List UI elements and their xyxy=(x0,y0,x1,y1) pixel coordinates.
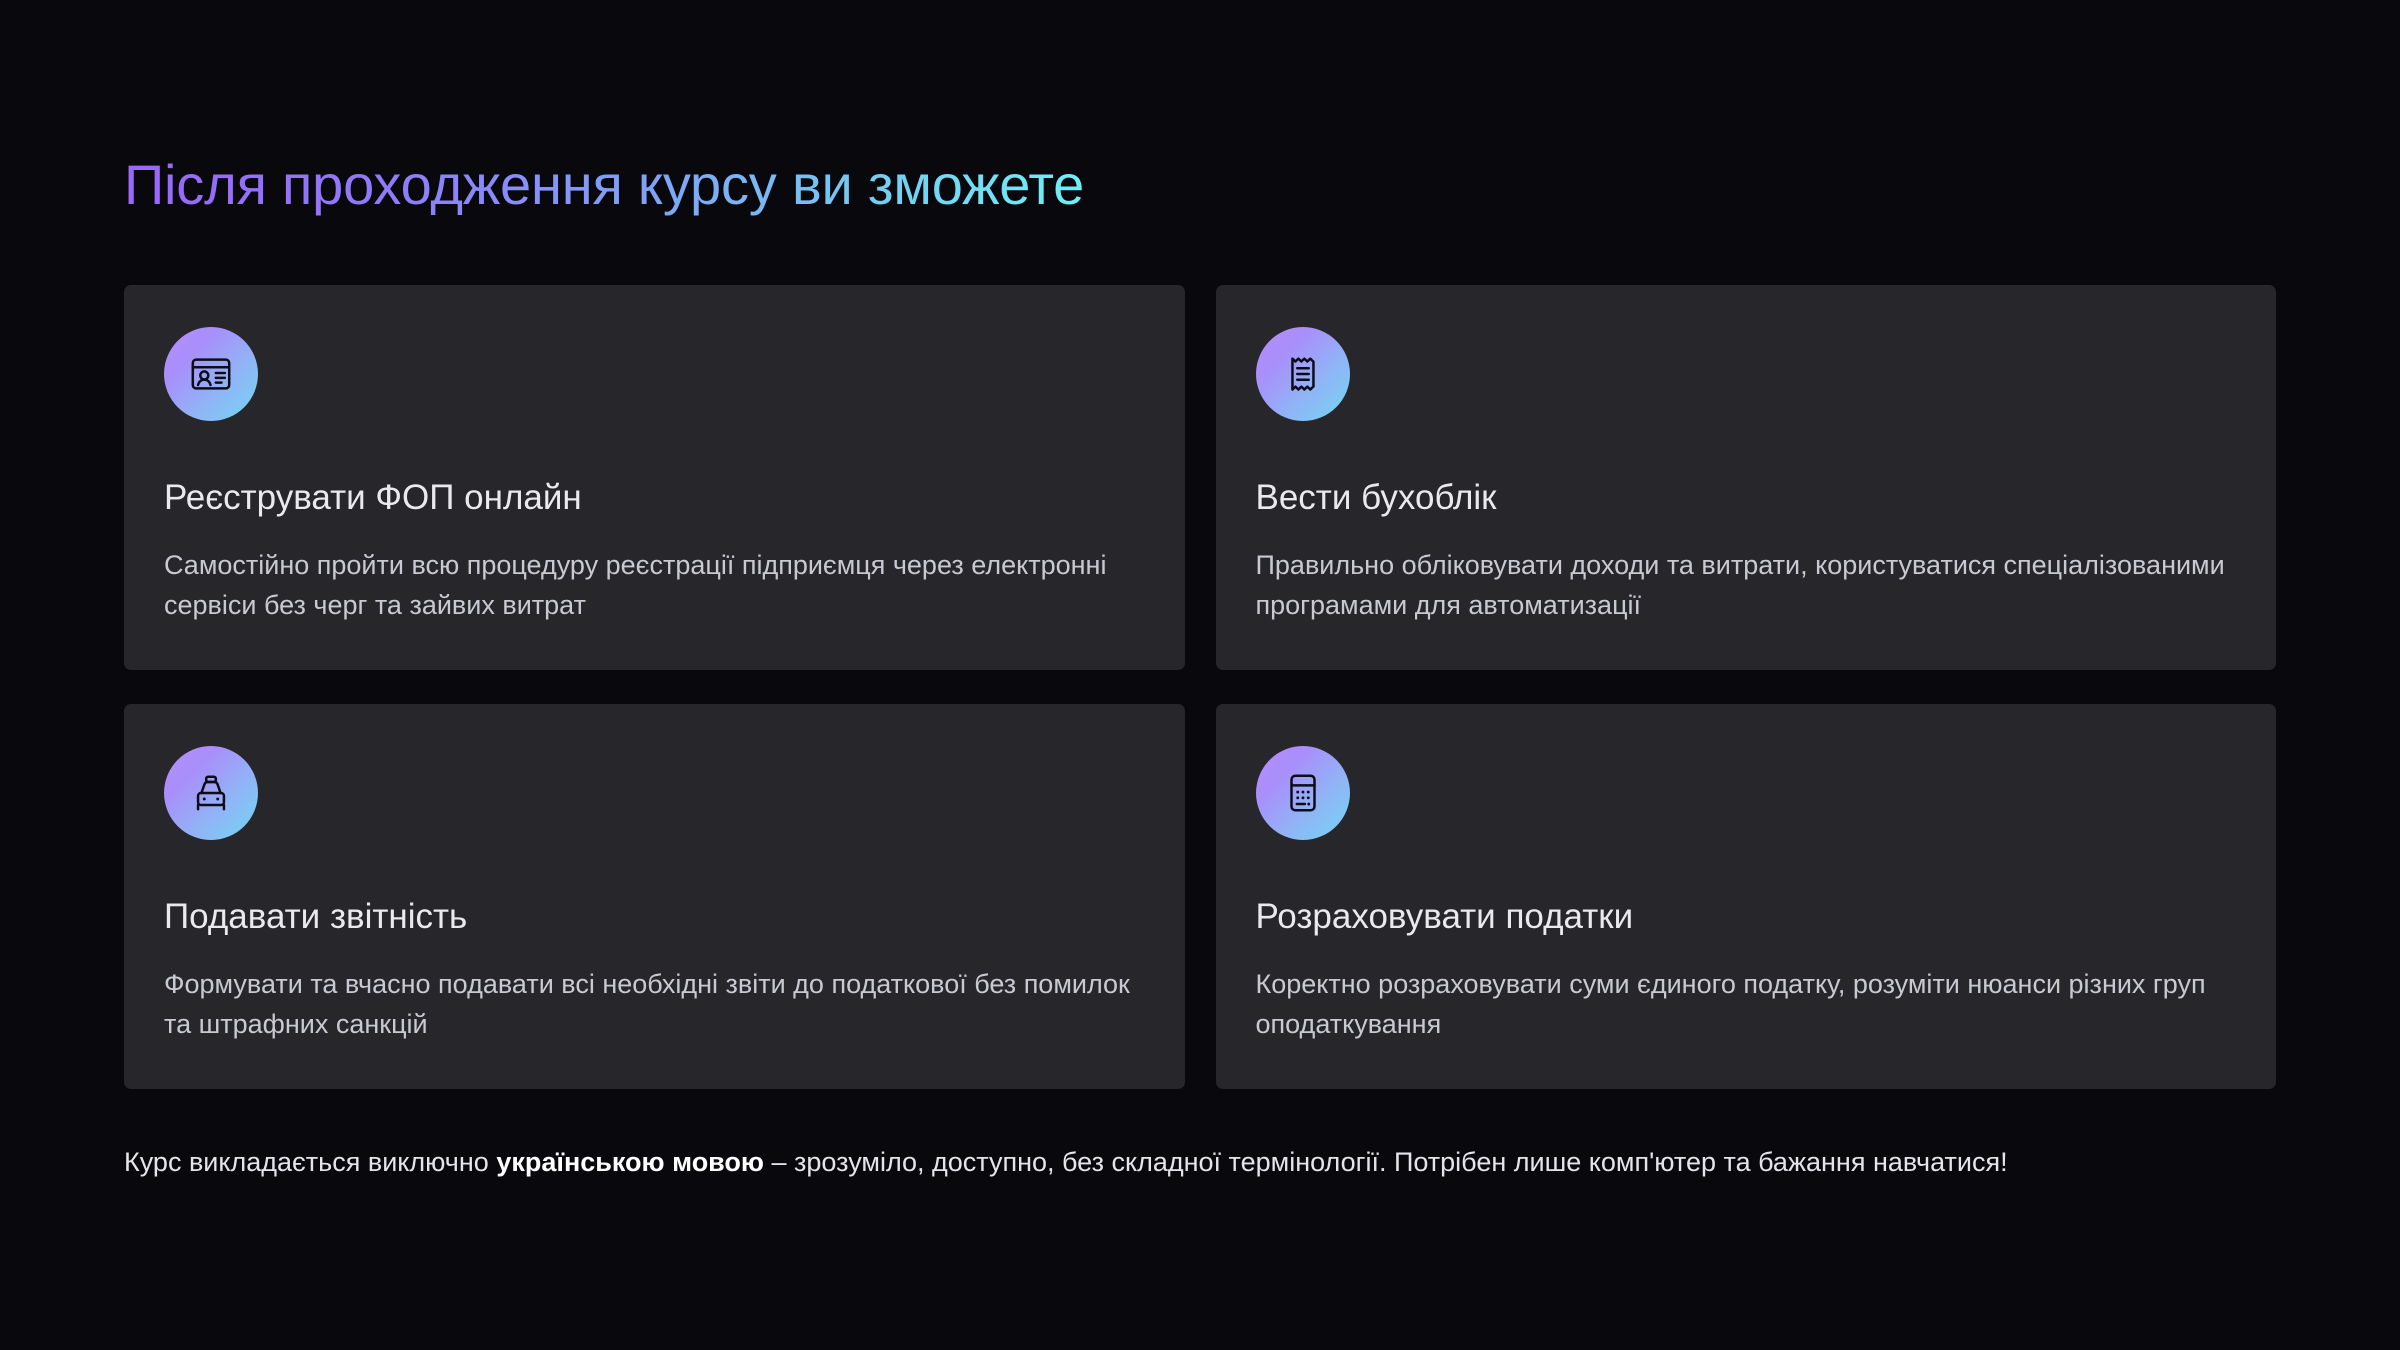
receipt-icon xyxy=(1256,327,1350,421)
calculator-icon xyxy=(1256,746,1350,840)
card-description: Коректно розраховувати суми єдиного пода… xyxy=(1256,965,2237,1045)
benefits-card-grid: Реєструвати ФОП онлайн Самостійно пройти… xyxy=(124,285,2276,1089)
taxi-icon xyxy=(164,746,258,840)
benefit-card-register-fop[interactable]: Реєструвати ФОП онлайн Самостійно пройти… xyxy=(124,285,1185,670)
course-language-note: Курс викладається виключно українською м… xyxy=(124,1142,2276,1183)
card-title: Вести бухоблік xyxy=(1256,477,2237,519)
card-title: Подавати звітність xyxy=(164,896,1145,938)
page-title: Після проходження курсу ви зможете xyxy=(124,152,1084,218)
benefit-card-taxes[interactable]: Розраховувати податки Коректно розрахову… xyxy=(1216,704,2277,1089)
card-title: Реєструвати ФОП онлайн xyxy=(164,477,1145,519)
benefit-card-accounting[interactable]: Вести бухоблік Правильно обліковувати до… xyxy=(1216,285,2277,670)
card-description: Правильно обліковувати доходи та витрати… xyxy=(1256,546,2237,626)
footer-text-after: – зрозуміло, доступно, без складної терм… xyxy=(764,1147,2008,1177)
card-title: Розраховувати податки xyxy=(1256,896,2237,938)
id-card-icon xyxy=(164,327,258,421)
card-description: Самостійно пройти всю процедуру реєстрац… xyxy=(164,546,1145,626)
footer-highlight: українською мовою xyxy=(496,1147,764,1177)
benefit-card-reporting[interactable]: Подавати звітність Формувати та вчасно п… xyxy=(124,704,1185,1089)
footer-text-before: Курс викладається виключно xyxy=(124,1147,496,1177)
content-container: Після проходження курсу ви зможете Реєст… xyxy=(124,0,2276,1182)
page-root: Після проходження курсу ви зможете Реєст… xyxy=(0,0,2400,1350)
card-description: Формувати та вчасно подавати всі необхід… xyxy=(164,965,1145,1045)
